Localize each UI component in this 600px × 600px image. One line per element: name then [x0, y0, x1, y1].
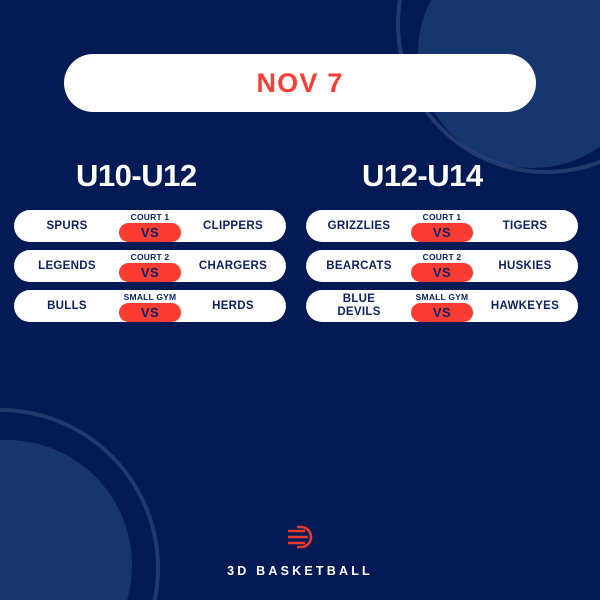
date-label: NOV 7	[256, 68, 343, 99]
vs-badge: VS	[119, 223, 181, 242]
match-row[interactable]: BEARCATS COURT 2 VS HUSKIES	[306, 250, 578, 282]
vs-badge: VS	[119, 263, 181, 282]
age-group-title: U10-U12	[0, 158, 300, 194]
vs-label: VS	[141, 305, 159, 320]
venue-label: COURT 1	[423, 212, 462, 222]
venue-label: COURT 2	[423, 252, 462, 262]
vs-label: VS	[433, 225, 451, 240]
match-row[interactable]: LEGENDS COURT 2 VS CHARGERS	[14, 250, 286, 282]
home-team: LEGENDS	[28, 260, 106, 273]
venue-label: COURT 2	[131, 252, 170, 262]
away-team: CLIPPERS	[194, 220, 272, 233]
away-team: TIGERS	[486, 220, 564, 233]
away-team: CHARGERS	[194, 260, 272, 273]
vs-badge: VS	[411, 223, 473, 242]
age-group-title: U12-U14	[300, 158, 600, 194]
vs-label: VS	[141, 265, 159, 280]
schedule-poster: NOV 7 U10-U12 SPURS COURT 1 VS CLIPPERS	[0, 0, 600, 600]
match-row[interactable]: GRIZZLIES COURT 1 VS TIGERS	[306, 210, 578, 242]
vs-badge: VS	[119, 303, 181, 322]
match-row[interactable]: SPURS COURT 1 VS CLIPPERS	[14, 210, 286, 242]
away-team: HUSKIES	[486, 260, 564, 273]
home-team: SPURS	[28, 220, 106, 233]
away-team: HERDS	[194, 300, 272, 313]
vs-label: VS	[433, 305, 451, 320]
age-group-column-u10-u12: U10-U12 SPURS COURT 1 VS CLIPPERS LEGEND…	[0, 158, 300, 322]
vs-label: VS	[141, 225, 159, 240]
venue-label: SMALL GYM	[416, 292, 469, 302]
venue-block: SMALL GYM VS	[102, 290, 198, 322]
footer: 3D BASKETBALL	[0, 524, 600, 578]
brand-name: 3D BASKETBALL	[227, 564, 373, 578]
match-row[interactable]: BLUE DEVILS SMALL GYM VS HAWKEYES	[306, 290, 578, 322]
home-team: BULLS	[28, 300, 106, 313]
match-list: SPURS COURT 1 VS CLIPPERS LEGENDS COURT …	[0, 210, 300, 322]
venue-block: COURT 1 VS	[102, 210, 198, 242]
home-team: GRIZZLIES	[320, 220, 398, 233]
venue-block: COURT 2 VS	[394, 250, 490, 282]
vs-badge: VS	[411, 303, 473, 322]
match-row[interactable]: BULLS SMALL GYM VS HERDS	[14, 290, 286, 322]
schedule-columns: U10-U12 SPURS COURT 1 VS CLIPPERS LEGEND…	[0, 158, 600, 322]
basketball-3d-logo-icon	[285, 524, 315, 555]
venue-label: COURT 1	[131, 212, 170, 222]
venue-block: SMALL GYM VS	[394, 290, 490, 322]
venue-block: COURT 1 VS	[394, 210, 490, 242]
home-team: BLUE DEVILS	[320, 293, 398, 319]
age-group-column-u12-u14: U12-U14 GRIZZLIES COURT 1 VS TIGERS BEAR…	[300, 158, 600, 322]
venue-label: SMALL GYM	[124, 292, 177, 302]
match-list: GRIZZLIES COURT 1 VS TIGERS BEARCATS COU…	[300, 210, 600, 322]
vs-label: VS	[433, 265, 451, 280]
home-team: BEARCATS	[320, 260, 398, 273]
venue-block: COURT 2 VS	[102, 250, 198, 282]
vs-badge: VS	[411, 263, 473, 282]
date-header: NOV 7	[64, 54, 536, 112]
away-team: HAWKEYES	[486, 300, 564, 313]
